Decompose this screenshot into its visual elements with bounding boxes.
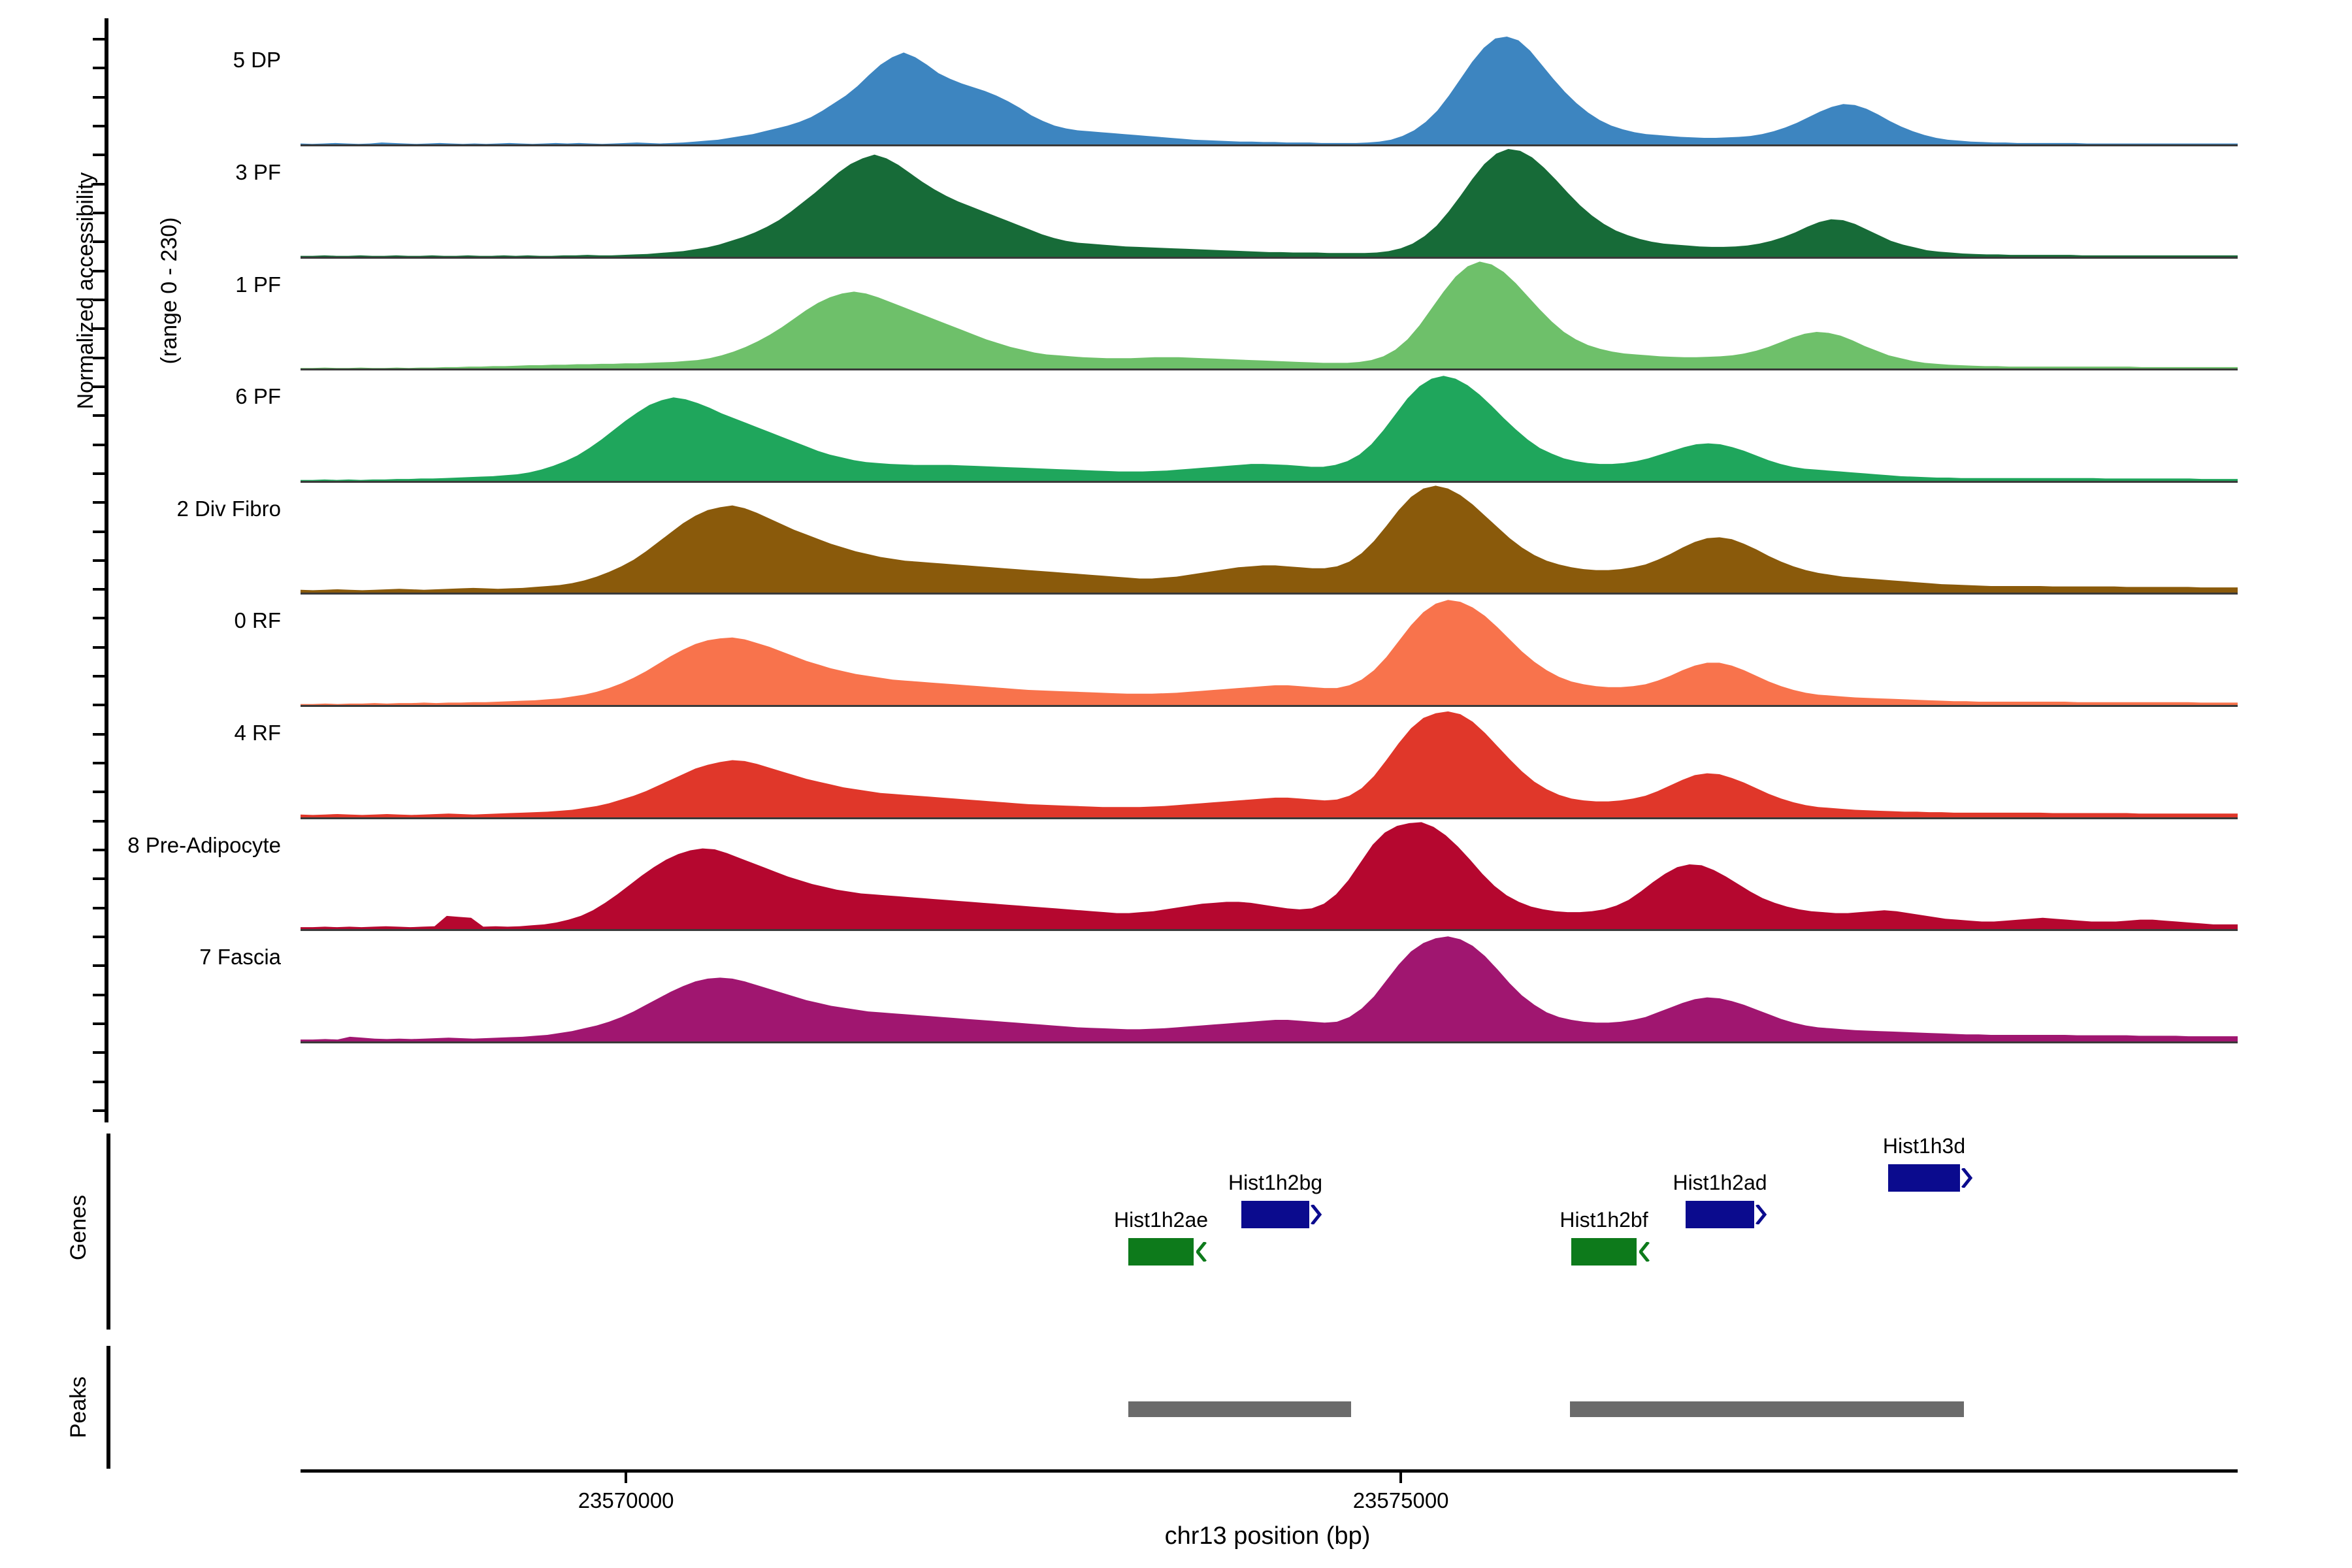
x-axis-tick	[1399, 1473, 1402, 1483]
gene-label-hist1h2ae: Hist1h2ae	[1114, 1208, 1208, 1232]
y-axis-tick	[93, 357, 105, 359]
signal-track	[301, 597, 2238, 705]
y-axis-tick	[93, 531, 105, 533]
genes-section-spine	[106, 1134, 110, 1330]
y-axis-tick	[93, 791, 105, 793]
track-label-7-fascia: 7 Fascia	[0, 945, 281, 970]
y-axis-tick	[93, 1051, 105, 1054]
y-axis-tick	[93, 820, 105, 823]
track-label-1-pf: 1 PF	[0, 272, 281, 297]
signal-track	[301, 710, 2238, 817]
peaks-section-label: Peaks	[66, 1348, 97, 1466]
track-baseline	[301, 368, 2238, 370]
signal-track	[301, 149, 2238, 257]
gene-body-hist1h2bg[interactable]	[1241, 1201, 1309, 1228]
y-axis-tick	[93, 1109, 105, 1112]
y-axis-tick	[93, 762, 105, 764]
gene-body-hist1h2ad[interactable]	[1686, 1201, 1754, 1228]
gene-label-hist1h2bf: Hist1h2bf	[1560, 1208, 1648, 1232]
y-axis-tick	[93, 96, 105, 99]
y-axis-tick	[93, 299, 105, 301]
gene-body-hist1h3d[interactable]	[1888, 1164, 1960, 1192]
track-label-2-div-fibro: 2 Div Fibro	[0, 497, 281, 521]
y-axis-tick	[93, 936, 105, 938]
track-baseline	[301, 929, 2238, 931]
gene-label-hist1h3d: Hist1h3d	[1883, 1134, 1965, 1158]
track-label-5-dp: 5 DP	[0, 48, 281, 73]
signal-track	[301, 821, 2238, 929]
genes-section-label: Genes	[66, 1169, 97, 1286]
x-axis-tick-label: 23570000	[578, 1488, 674, 1513]
y-axis-tick	[93, 212, 105, 214]
y-axis-tick	[93, 1022, 105, 1025]
track-baseline	[301, 705, 2238, 707]
gene-body-hist1h2ae[interactable]	[1128, 1238, 1194, 1266]
y-axis-tick	[93, 154, 105, 156]
track-baseline	[301, 144, 2238, 146]
peaks-section-spine	[106, 1346, 110, 1469]
y-axis-tick	[93, 877, 105, 880]
y-axis-tick	[93, 675, 105, 678]
y-axis-tick	[93, 125, 105, 127]
gene-strand-arrow-left	[1196, 1242, 1208, 1262]
x-axis-title: chr13 position (bp)	[1165, 1522, 1371, 1550]
gene-label-hist1h2ad: Hist1h2ad	[1673, 1171, 1767, 1195]
track-label-3-pf: 3 PF	[0, 160, 281, 185]
y-axis-tick	[93, 704, 105, 706]
signal-track	[301, 934, 2238, 1041]
track-label-0-rf: 0 RF	[0, 608, 281, 633]
gene-strand-arrow-right	[1756, 1205, 1767, 1224]
y-axis-tick	[93, 646, 105, 649]
y-axis-tick	[93, 472, 105, 475]
signal-track	[301, 485, 2238, 593]
y-axis-tick	[93, 994, 105, 996]
y-axis-tick	[93, 444, 105, 446]
x-axis-tick-label: 23575000	[1353, 1488, 1449, 1513]
track-label-6-pf: 6 PF	[0, 384, 281, 409]
gene-strand-arrow-right	[1961, 1168, 1973, 1188]
y-axis-tick	[93, 588, 105, 591]
gene-label-hist1h2bg: Hist1h2bg	[1228, 1171, 1322, 1195]
track-baseline	[301, 481, 2238, 483]
track-baseline	[301, 1041, 2238, 1043]
x-axis-line	[301, 1469, 2238, 1473]
signal-track	[301, 373, 2238, 481]
track-label-4-rf: 4 RF	[0, 721, 281, 745]
genome-browser-figure: Normalized accessibility (range 0 - 230)…	[0, 0, 2352, 1568]
track-baseline	[301, 593, 2238, 595]
y-axis-tick	[93, 240, 105, 243]
track-baseline	[301, 257, 2238, 259]
y-axis-tick	[93, 414, 105, 417]
track-label-8-pre-adipocyte: 8 Pre-Adipocyte	[0, 833, 281, 858]
gene-body-hist1h2bf[interactable]	[1571, 1238, 1637, 1266]
peak-bar[interactable]	[1128, 1401, 1351, 1417]
y-axis-tick	[93, 327, 105, 330]
gene-strand-arrow-right	[1311, 1205, 1322, 1224]
peak-bar[interactable]	[1570, 1401, 1964, 1417]
y-axis-tick	[93, 559, 105, 562]
track-baseline	[301, 817, 2238, 819]
y-axis-tick	[93, 1081, 105, 1083]
x-axis-tick	[625, 1473, 627, 1483]
signal-track	[301, 37, 2238, 144]
gene-strand-arrow-left	[1639, 1242, 1651, 1262]
y-axis-tick	[93, 907, 105, 909]
signal-track	[301, 261, 2238, 368]
y-axis-tick	[93, 38, 105, 41]
